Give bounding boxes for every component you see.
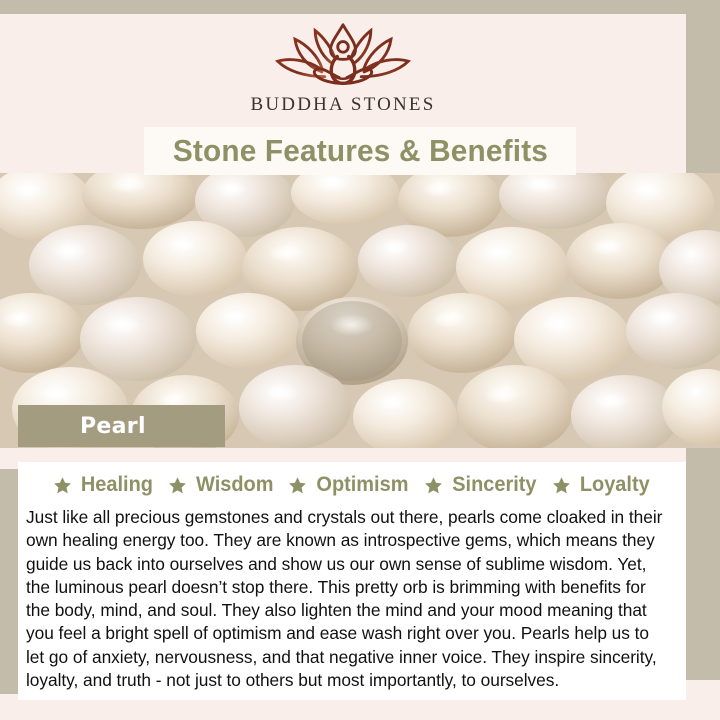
benefit-item: Optimism	[288, 473, 411, 497]
benefit-label: Sincerity	[452, 473, 536, 497]
stone-info-card: BUDDHA STONES Stone Features & Benefits	[0, 0, 720, 720]
benefits-list: Healing Wisdom Optimism Sincerity Loyalt…	[18, 466, 686, 504]
star-icon	[552, 476, 571, 495]
benefit-item: Loyalty	[552, 473, 652, 497]
page-title: Stone Features & Benefits	[172, 133, 547, 169]
brand-name: BUDDHA STONES	[250, 94, 435, 116]
benefit-label: Healing	[81, 473, 153, 497]
benefit-item: Healing	[53, 473, 155, 497]
brand-logo: BUDDHA STONES	[0, 20, 686, 126]
stone-name-bar: Pearl	[18, 405, 225, 447]
section-title-banner: Stone Features & Benefits	[144, 127, 576, 175]
star-icon	[288, 476, 307, 495]
star-icon	[424, 476, 443, 495]
lotus-meditation-icon	[268, 20, 418, 92]
benefit-item: Wisdom	[168, 473, 275, 497]
benefit-item: Sincerity	[424, 473, 539, 497]
description-text: Just like all precious gemstones and cry…	[26, 506, 666, 692]
benefit-label: Loyalty	[580, 473, 650, 497]
description-card: Healing Wisdom Optimism Sincerity Loyalt…	[18, 462, 686, 700]
benefit-label: Wisdom	[196, 473, 273, 497]
frame-band-top	[0, 0, 720, 14]
star-icon	[168, 476, 187, 495]
benefit-label: Optimism	[317, 473, 409, 497]
stone-name-label: Pearl	[18, 414, 146, 439]
star-icon	[53, 476, 72, 495]
